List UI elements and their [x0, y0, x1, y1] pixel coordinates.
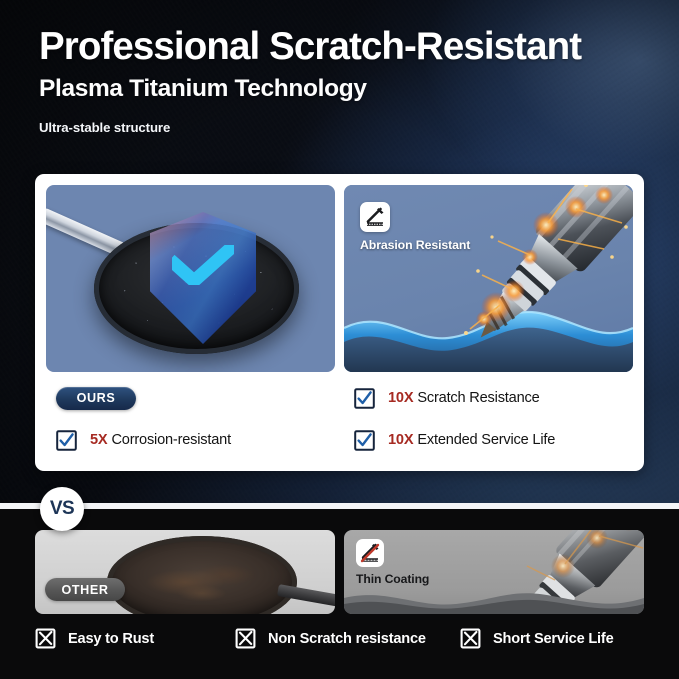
feature-label: 5XCorrosion-resistant — [90, 432, 231, 448]
other-section: OTHER — [0, 509, 679, 679]
ours-abrasion-panel: Abrasion Resistant — [344, 185, 633, 372]
ours-pan-panel — [46, 185, 335, 372]
ours-badge: OURS — [56, 387, 136, 410]
pan-illustration — [46, 185, 335, 372]
checkbox-checked-icon — [354, 430, 375, 451]
other-feature-rows: Easy to Rust Non Scratch resistance Shor… — [35, 628, 660, 649]
ours-feature-corrosion: 5XCorrosion-resistant — [46, 430, 346, 451]
drill-bit-illustration — [426, 185, 633, 364]
ours-feature-row: OURS 10XScratch Resistance — [46, 377, 633, 419]
ours-feature-scratch: 10XScratch Resistance — [346, 388, 633, 409]
ours-card: Abrasion Resistant OURS 10XScratch Resis… — [35, 174, 644, 471]
checkbox-crossed-icon — [460, 628, 481, 649]
feature-text: Short Service Life — [493, 631, 614, 647]
checkbox-crossed-icon — [235, 628, 256, 649]
checkbox-checked-icon — [56, 430, 77, 451]
feature-label: 10XScratch Resistance — [388, 390, 540, 406]
ours-feature-service-life: 10XExtended Service Life — [346, 430, 633, 451]
ours-feature-row: 5XCorrosion-resistant 10XExtended Servic… — [46, 419, 633, 461]
other-thin-coating-panel: Thin Coating — [344, 530, 644, 614]
check-icon — [172, 245, 234, 285]
ours-image-panels: Abrasion Resistant — [46, 185, 633, 372]
feature-text: Easy to Rust — [68, 631, 154, 647]
other-image-panels: OTHER — [35, 530, 644, 614]
feature-text: Extended Service Life — [417, 432, 555, 448]
thin-coating-label: Thin Coating — [356, 572, 429, 586]
feature-multiplier: 10X — [388, 390, 413, 406]
feature-multiplier: 10X — [388, 432, 413, 448]
ours-badge-cell: OURS — [46, 387, 346, 410]
feature-multiplier: 5X — [90, 432, 107, 448]
other-feature-service-life: Short Service Life — [460, 628, 660, 649]
product-comparison-infographic: Professional Scratch-Resistant Plasma Ti… — [0, 0, 679, 679]
abrasion-resistant-icon — [360, 202, 390, 232]
other-feature-rust: Easy to Rust — [35, 628, 235, 649]
page-tagline: Ultra-stable structure — [39, 120, 669, 135]
other-badge: OTHER — [45, 578, 125, 601]
feature-text: Corrosion-resistant — [111, 432, 230, 448]
abrasion-resistant-label: Abrasion Resistant — [360, 238, 470, 252]
vs-badge: VS — [40, 487, 84, 531]
feature-text: Non Scratch resistance — [268, 631, 426, 647]
page-title: Professional Scratch-Resistant — [39, 26, 669, 68]
feature-label: 10XExtended Service Life — [388, 432, 555, 448]
checkbox-crossed-icon — [35, 628, 56, 649]
ours-feature-rows: OURS 10XScratch Resistance — [46, 377, 633, 461]
gray-wave-graphic — [344, 588, 644, 614]
headline-group: Professional Scratch-Resistant Plasma Ti… — [39, 26, 669, 135]
rusty-pan-rim — [107, 536, 297, 614]
thin-coating-crossed-icon — [356, 539, 384, 567]
other-pan-panel: OTHER — [35, 530, 335, 614]
other-feature-scratch: Non Scratch resistance — [235, 628, 460, 649]
feature-text: Scratch Resistance — [417, 390, 539, 406]
rusty-pan-handle — [277, 584, 335, 609]
checkbox-checked-icon — [354, 388, 375, 409]
page-subtitle: Plasma Titanium Technology — [39, 75, 669, 103]
